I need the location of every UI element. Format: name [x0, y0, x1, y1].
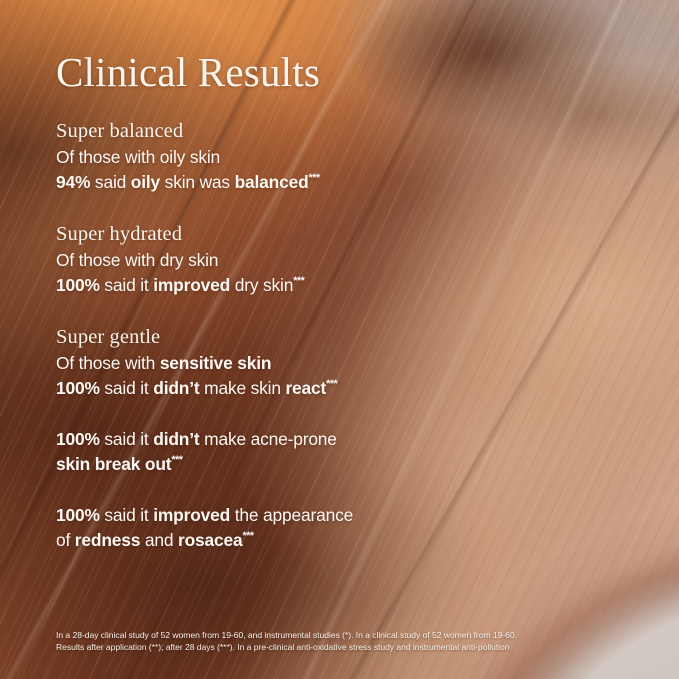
plain-text: said it	[100, 429, 153, 449]
plain-text: said it	[100, 505, 153, 525]
emphasis-text: skin break out	[56, 454, 171, 474]
footnote-asterisks: ***	[293, 275, 304, 287]
result-stat-line: skin break out***	[56, 452, 486, 477]
result-stat-line: 100% said it improved dry skin***	[56, 273, 486, 298]
plain-text: of	[56, 530, 75, 550]
result-block: Super balancedOf those with oily skin94%…	[56, 118, 486, 195]
result-stat-line: of redness and rosacea***	[56, 528, 486, 553]
plain-text: make skin	[200, 378, 286, 398]
result-block: Super gentleOf those with sensitive skin…	[56, 324, 486, 401]
emphasis-text: 100%	[56, 275, 100, 295]
fineprint-disclaimer: In a 28-day clinical study of 52 women f…	[56, 630, 636, 653]
result-stat-line: Of those with dry skin	[56, 248, 486, 273]
emphasis-text: redness	[75, 530, 140, 550]
poster-content: Clinical Results Super balancedOf those …	[0, 0, 679, 679]
emphasis-text: oily	[131, 172, 160, 192]
result-block-heading: Super hydrated	[56, 221, 486, 248]
result-block: Super hydratedOf those with dry skin100%…	[56, 221, 486, 298]
emphasis-text: 100%	[56, 505, 100, 525]
emphasis-text: balanced	[235, 172, 309, 192]
clinical-results-poster: Clinical Results Super balancedOf those …	[0, 0, 679, 679]
footnote-asterisks: ***	[171, 454, 182, 466]
plain-text: the appearance	[230, 505, 353, 525]
plain-text: and	[140, 530, 178, 550]
results-list: Super balancedOf those with oily skin94%…	[56, 118, 486, 553]
footnote-asterisks: ***	[243, 530, 254, 542]
result-stat-line: 100% said it didn’t make skin react***	[56, 376, 486, 401]
plain-text: skin was	[160, 172, 235, 192]
result-block-heading: Super balanced	[56, 118, 486, 145]
emphasis-text: didn’t	[153, 378, 199, 398]
result-block-heading: Super gentle	[56, 324, 486, 351]
emphasis-text: 100%	[56, 429, 100, 449]
result-block: 100% said it improved the appearanceof r…	[56, 503, 486, 553]
plain-text: Of those with	[56, 353, 160, 373]
footnote-asterisks: ***	[326, 378, 337, 390]
page-title: Clinical Results	[56, 52, 320, 93]
result-stat-line: Of those with sensitive skin	[56, 351, 486, 376]
emphasis-text: 94%	[56, 172, 90, 192]
emphasis-text: rosacea	[178, 530, 243, 550]
fineprint-line: Results after application (**); after 28…	[56, 642, 636, 654]
emphasis-text: didn’t	[153, 429, 199, 449]
result-stat-line: 100% said it didn’t make acne-prone	[56, 427, 486, 452]
plain-text: make acne-prone	[200, 429, 337, 449]
result-block: 100% said it didn’t make acne-proneskin …	[56, 427, 486, 477]
plain-text: said	[90, 172, 131, 192]
plain-text: said it	[100, 378, 153, 398]
result-stat-line: 100% said it improved the appearance	[56, 503, 486, 528]
result-stat-line: 94% said oily skin was balanced***	[56, 170, 486, 195]
result-stat-line: Of those with oily skin	[56, 145, 486, 170]
plain-text: Of those with dry skin	[56, 250, 218, 270]
emphasis-text: react	[285, 378, 326, 398]
plain-text: Of those with oily skin	[56, 147, 220, 167]
emphasis-text: improved	[153, 505, 230, 525]
plain-text: said it	[100, 275, 153, 295]
emphasis-text: 100%	[56, 378, 100, 398]
emphasis-text: improved	[153, 275, 230, 295]
emphasis-text: sensitive skin	[160, 353, 272, 373]
footnote-asterisks: ***	[309, 172, 320, 184]
plain-text: dry skin	[230, 275, 293, 295]
fineprint-line: In a 28-day clinical study of 52 women f…	[56, 630, 636, 642]
